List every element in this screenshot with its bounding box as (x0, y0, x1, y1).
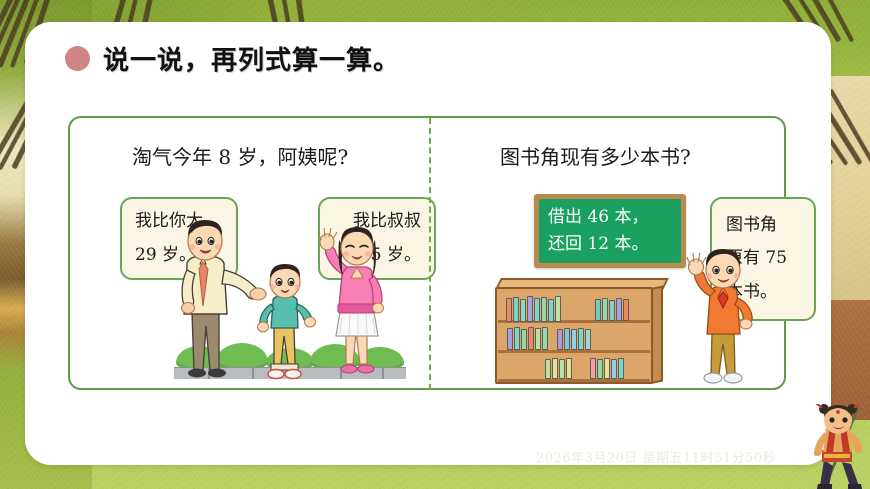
book-item (590, 358, 596, 379)
book-item (552, 358, 558, 379)
page-title: 说一说，再列式算一算。 (65, 40, 400, 77)
book-item (541, 297, 547, 322)
exercise-box: 淘气今年 8 岁，阿姨呢? 我比你大 29 岁。 我比叔叔 小 5 岁。 (68, 116, 786, 390)
book-item (618, 358, 624, 379)
book-item (623, 299, 629, 321)
book-item (506, 298, 512, 322)
book-item (555, 296, 561, 322)
bookshelf-illustration (486, 118, 736, 390)
book-item (557, 329, 563, 350)
book-item (585, 329, 591, 350)
book-group (506, 296, 561, 322)
book-item (548, 299, 554, 322)
book-group (507, 327, 548, 350)
left-question-text: 淘气今年 8 岁，阿姨呢? (132, 141, 348, 170)
father-figure-icon (170, 214, 416, 390)
page-title-text: 说一说，再列式算一算。 (103, 40, 400, 77)
book-item (595, 299, 601, 321)
nezha-mascot-icon (806, 404, 868, 489)
book-item (535, 328, 541, 350)
book-item (611, 359, 617, 379)
book-item (528, 327, 534, 350)
book-item (566, 358, 572, 379)
book-group (545, 358, 572, 379)
book-item (602, 298, 608, 321)
content-card: 说一说，再列式算一算。 淘气今年 8 岁，阿姨呢? 我比你大 29 岁。 我比叔… (25, 22, 831, 465)
panel-divider (429, 118, 431, 390)
book-item (514, 327, 520, 350)
book-group (557, 328, 591, 350)
book-group (595, 298, 629, 321)
bookshelf-plank (498, 379, 650, 382)
bullet-dot-icon (65, 46, 90, 71)
slide-canvas: 说一说，再列式算一算。 淘气今年 8 岁，阿姨呢? 我比你大 29 岁。 我比叔… (0, 0, 870, 489)
boy-figure-icon (682, 248, 778, 398)
bookshelf (495, 278, 663, 384)
family-illustration (170, 214, 416, 390)
timestamp-label: 2026年3月20日 星期五11时51分50秒 (536, 447, 776, 466)
book-item (507, 328, 513, 350)
book-item (534, 298, 540, 322)
book-item (542, 327, 548, 350)
book-item (527, 296, 533, 322)
book-group (590, 358, 624, 379)
book-item (604, 358, 610, 379)
book-item (545, 359, 551, 379)
book-item (597, 359, 603, 379)
book-item (609, 300, 615, 321)
bubble-boy-line-1: 图书角 (726, 209, 814, 242)
book-item (616, 298, 622, 321)
book-item (520, 299, 526, 322)
book-item (571, 329, 577, 350)
book-item (521, 329, 527, 350)
book-item (513, 297, 519, 322)
book-item (559, 359, 565, 379)
bookshelf-plank (498, 350, 650, 353)
book-item (564, 328, 570, 350)
book-item (578, 328, 584, 350)
